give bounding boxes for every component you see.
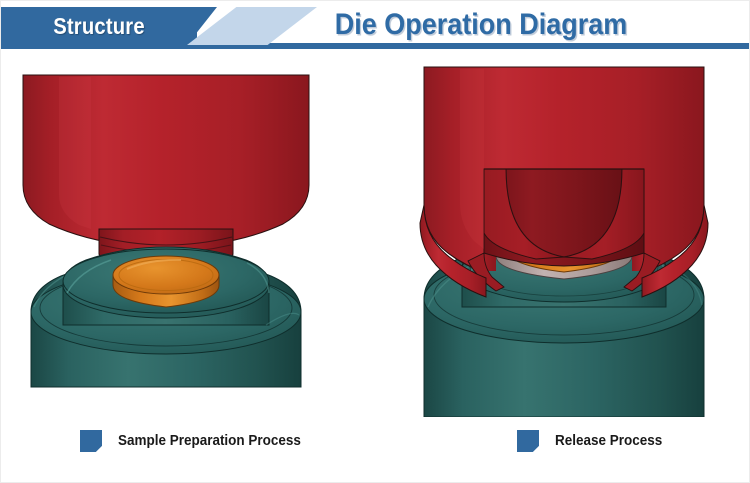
page-title: Die Operation Diagram: [310, 5, 652, 45]
release-process-illustration: [376, 57, 750, 417]
upper-die-red: [23, 75, 309, 274]
legend-label-sample-preparation: Sample Preparation Process: [118, 433, 301, 449]
diagram-panel-release-process: [376, 57, 750, 417]
legend-label-release-process: Release Process: [555, 433, 662, 449]
sample-disc-orange: [113, 256, 219, 307]
legend-swatch-icon: [517, 430, 539, 452]
upper-die-red-cutaway: [420, 67, 708, 297]
die-operation-diagram-page: Structure Die Operation Diagram: [0, 0, 750, 483]
legend-item-release-process: Release Process: [517, 421, 670, 461]
legend: Sample Preparation Process Release Proce…: [1, 421, 750, 469]
legend-swatch-icon: [80, 430, 102, 452]
legend-item-sample-preparation: Sample Preparation Process: [80, 421, 315, 461]
header-tag-label: Structure: [13, 7, 185, 45]
sample-preparation-illustration: [1, 57, 376, 417]
page-header: Structure Die Operation Diagram: [1, 1, 750, 53]
diagram-panel-sample-preparation: [1, 57, 376, 417]
